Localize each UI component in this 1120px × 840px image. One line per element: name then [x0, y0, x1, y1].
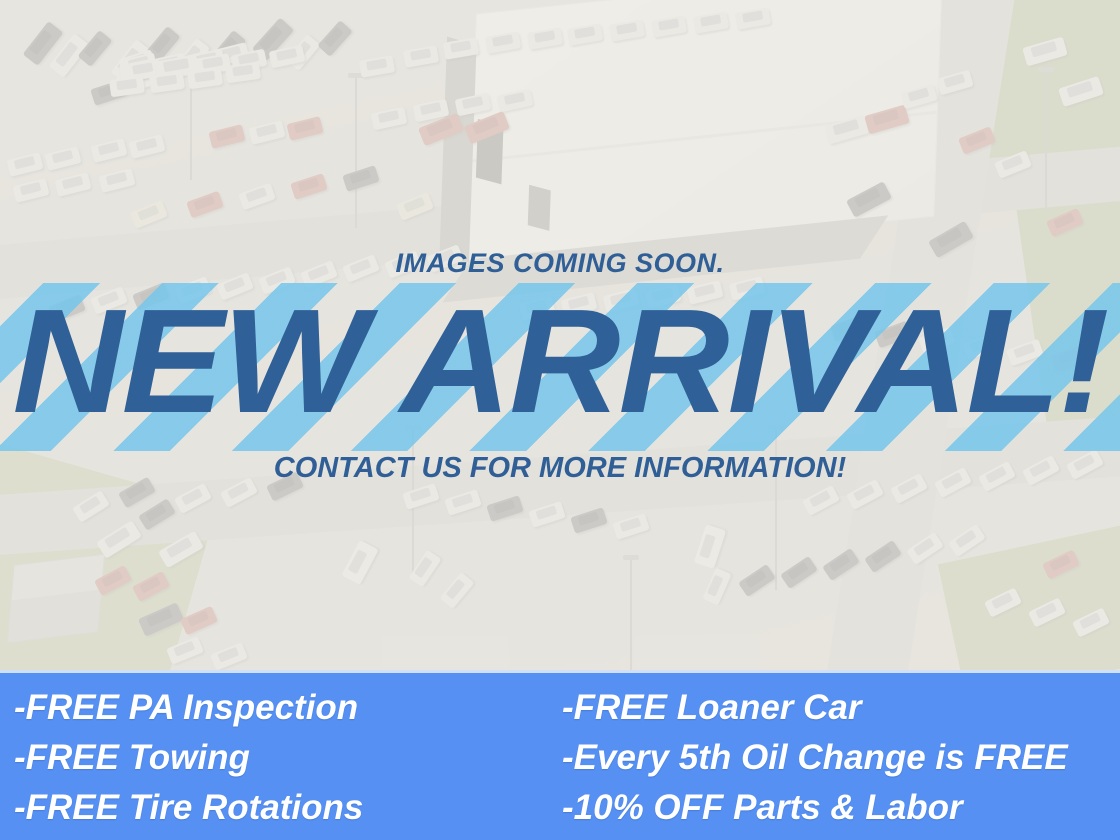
offer-item: -10% OFF Parts & Labor: [562, 783, 1068, 833]
new-arrival-headline: NEW ARRIVAL!: [0, 288, 1120, 436]
new-arrival-placeholder-card: IMAGES COMING SOON. NEW ARRIVAL! CONTACT…: [0, 0, 1120, 840]
offer-item: -FREE Loaner Car: [562, 683, 1068, 733]
offer-item: -Every 5th Oil Change is FREE: [562, 733, 1068, 783]
offers-right-column: -FREE Loaner Car -Every 5th Oil Change i…: [562, 683, 1068, 833]
offer-item: -FREE Towing: [14, 733, 363, 783]
offers-left-column: -FREE PA Inspection -FREE Towing -FREE T…: [14, 683, 363, 833]
offer-item: -FREE Tire Rotations: [14, 783, 363, 833]
placeholder-text-overlay: IMAGES COMING SOON. NEW ARRIVAL! CONTACT…: [0, 0, 1120, 670]
service-offers-banner: -FREE PA Inspection -FREE Towing -FREE T…: [0, 670, 1120, 840]
contact-us-text: CONTACT US FOR MORE INFORMATION!: [0, 452, 1120, 485]
images-coming-soon-text: IMAGES COMING SOON.: [0, 248, 1120, 279]
offer-item: -FREE PA Inspection: [14, 683, 363, 733]
